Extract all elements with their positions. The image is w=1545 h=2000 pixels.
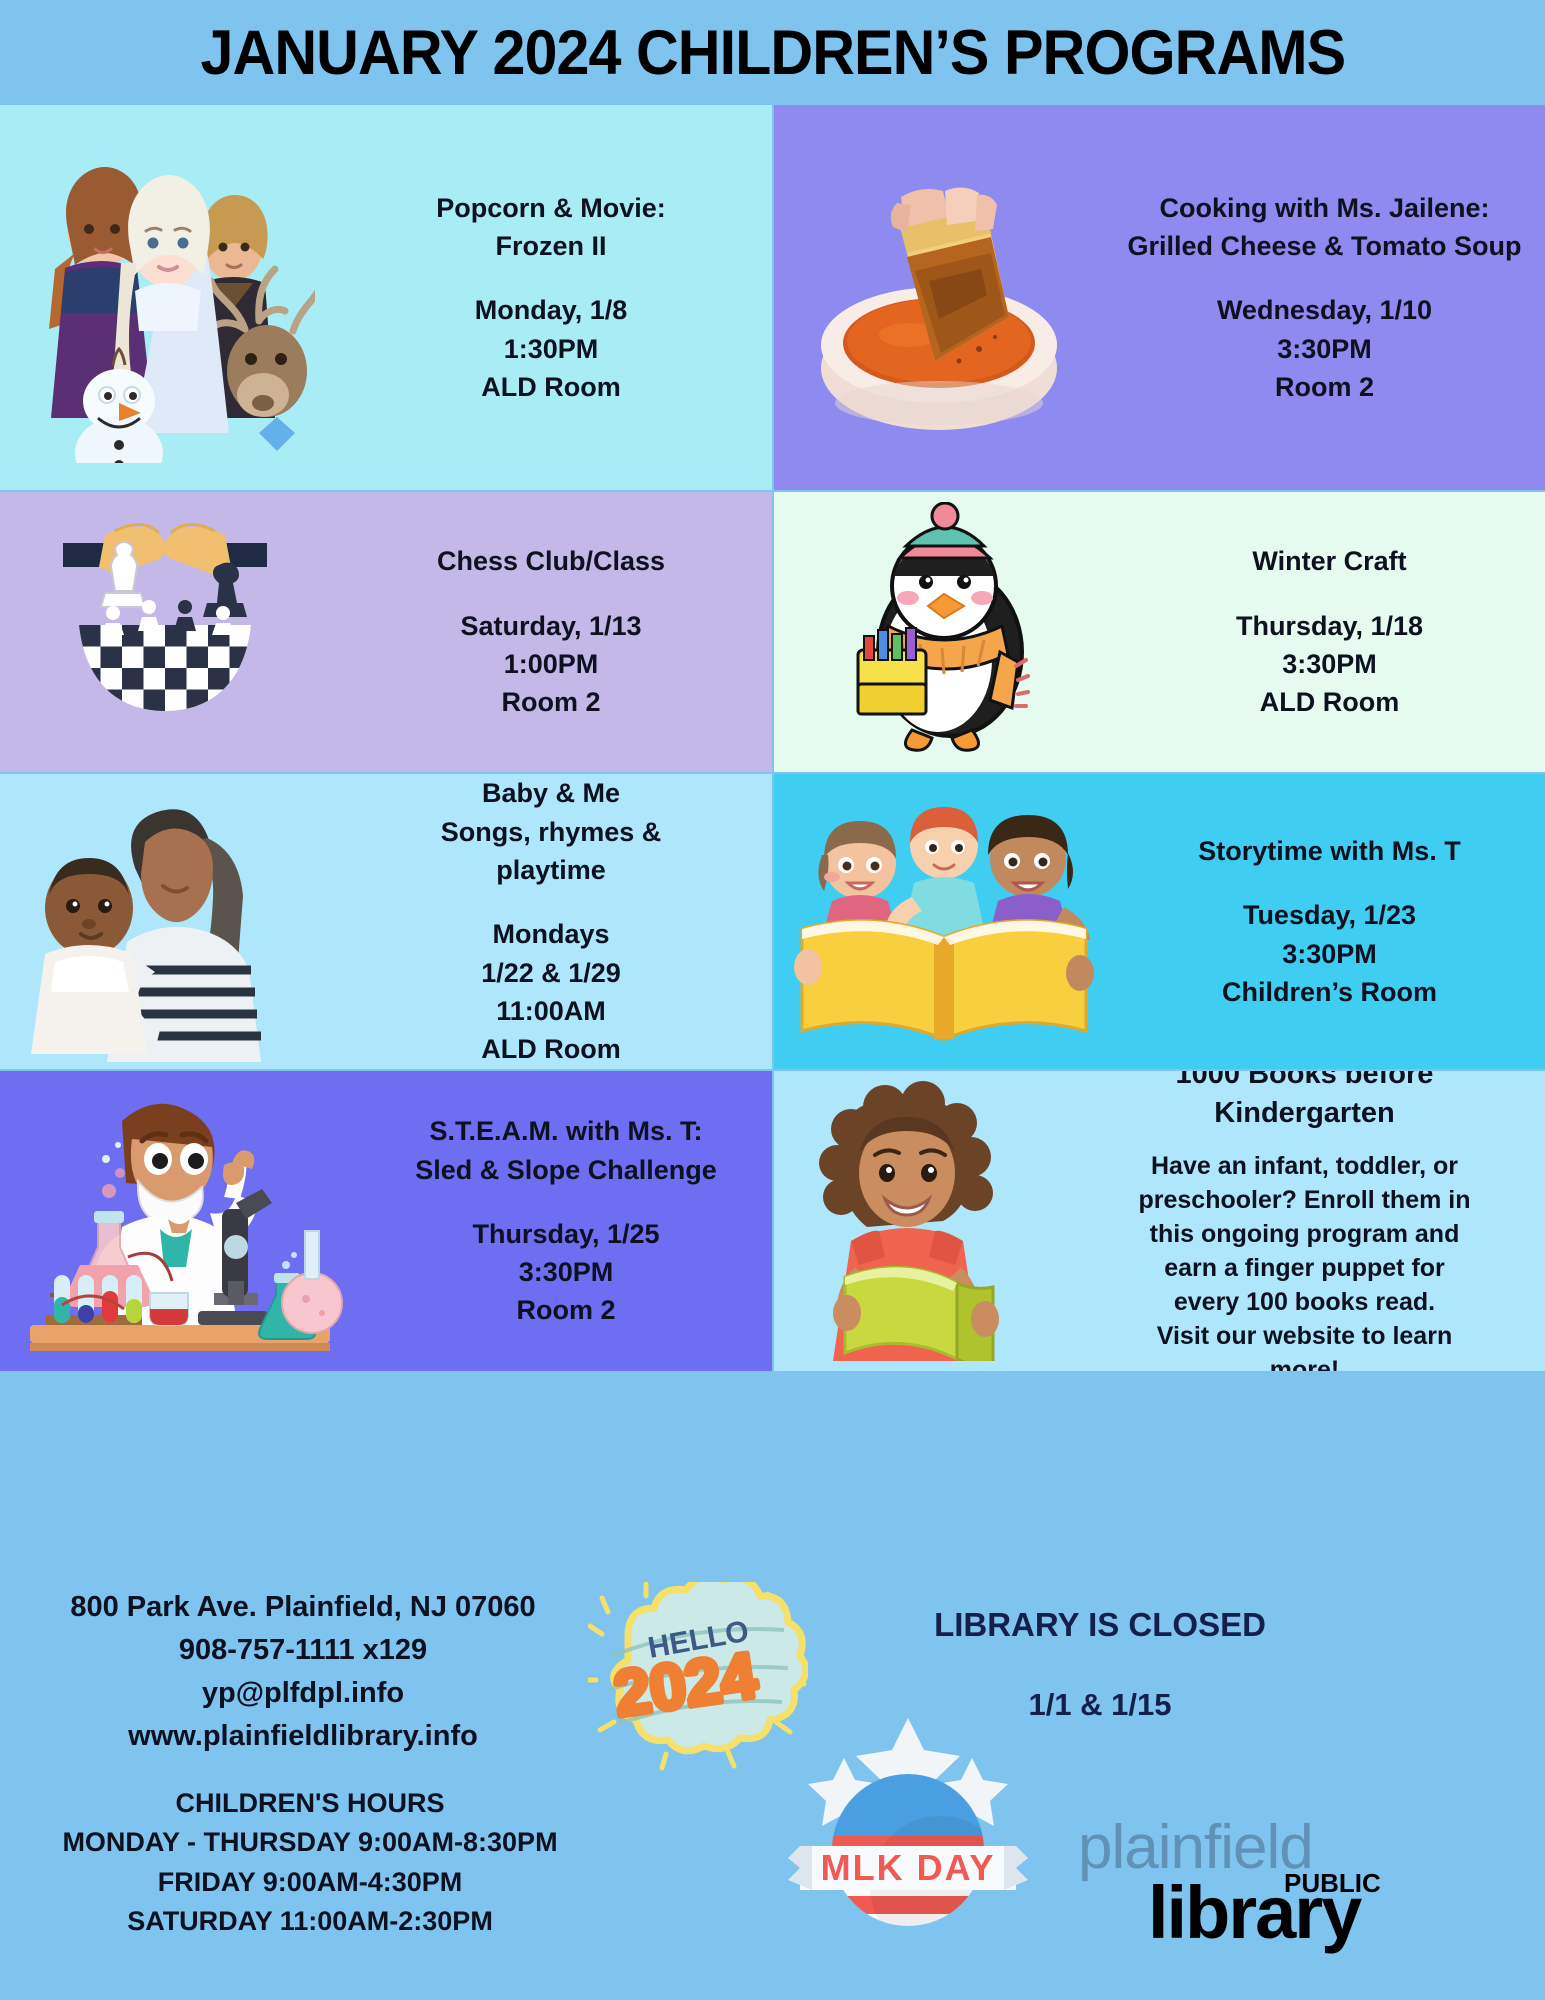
program-text-cooking: Cooking with Ms. Jailene: Grilled Cheese… [1104,189,1545,407]
program-title-line: Cooking with Ms. Jailene: [1114,189,1535,227]
penguin-with-crayons-image [774,492,1114,772]
program-text-popcorn-movie: Popcorn & Movie: Frozen II Monday, 1/8 1… [330,189,772,407]
program-body-line: Visit our website to learn [1074,1319,1535,1353]
program-detail-line: Tuesday, 1/23 [1124,896,1535,934]
hours-line: SATURDAY 11:00AM-2:30PM [0,1902,620,1941]
program-title-line: Chess Club/Class [340,542,762,580]
program-card-baby-and-me[interactable]: Baby & Me Songs, rhymes & playtime Monda… [0,774,772,1069]
program-card-storytime[interactable]: Storytime with Ms. T Tuesday, 1/23 3:30P… [774,774,1545,1069]
program-title-line: S.T.E.A.M. with Ms. T: [370,1112,762,1150]
science-lab-kid-image [0,1071,360,1371]
program-detail-line: Room 2 [1114,368,1535,406]
program-detail-line: Room 2 [370,1291,762,1329]
poster-header: JANUARY 2024 CHILDREN’S PROGRAMS [0,0,1545,105]
program-detail-line: 3:30PM [1124,645,1535,683]
program-card-steam[interactable]: S.T.E.A.M. with Ms. T: Sled & Slope Chal… [0,1071,772,1371]
program-title-line: 1000 Books before [1074,1071,1535,1094]
program-detail-line: 1/22 & 1/29 [340,954,762,992]
program-text-winter-craft: Winter Craft Thursday, 1/18 3:30PM ALD R… [1114,542,1545,721]
program-title-line: Popcorn & Movie: [340,189,762,227]
hours-line: FRIDAY 9:00AM-4:30PM [0,1863,620,1902]
mother-and-baby-image [0,774,330,1069]
program-detail-line: 11:00AM [340,992,762,1030]
program-card-chess[interactable]: Chess Club/Class Saturday, 1/13 1:00PM R… [0,492,772,772]
program-title-line: Sled & Slope Challenge [370,1151,762,1189]
program-detail-line: Monday, 1/8 [340,291,762,329]
girl-with-book-image [774,1071,1064,1371]
closed-title: LIBRARY IS CLOSED [790,1600,1410,1650]
program-title-line: Songs, rhymes & [340,813,762,851]
program-detail-line: Wednesday, 1/10 [1114,291,1535,329]
program-title-line: Baby & Me [340,774,762,812]
program-detail-line: 3:30PM [1114,330,1535,368]
program-card-cooking[interactable]: Cooking with Ms. Jailene: Grilled Cheese… [774,105,1545,490]
program-text-1000-books: 1000 Books before Kindergarten Have an i… [1064,1071,1545,1371]
program-detail-line: Thursday, 1/25 [370,1215,762,1253]
phone-line: 908-757-1111 x129 [18,1629,588,1672]
program-detail-line: Room 2 [340,683,762,721]
program-detail-line: ALD Room [1124,683,1535,721]
program-text-steam: S.T.E.A.M. with Ms. T: Sled & Slope Chal… [360,1112,772,1330]
contact-info: 800 Park Ave. Plainfield, NJ 07060 908-7… [18,1586,588,1758]
program-detail-line: Mondays [340,915,762,953]
programs-grid: Popcorn & Movie: Frozen II Monday, 1/8 1… [0,105,1545,1570]
website-line[interactable]: www.plainfieldlibrary.info [18,1715,588,1758]
childrens-hours: CHILDREN'S HOURS MONDAY - THURSDAY 9:00A… [0,1784,620,1942]
hours-line: MONDAY - THURSDAY 9:00AM-8:30PM [0,1823,620,1862]
program-title-line: playtime [340,851,762,889]
program-text-storytime: Storytime with Ms. T Tuesday, 1/23 3:30P… [1114,832,1545,1011]
program-text-chess: Chess Club/Class Saturday, 1/13 1:00PM R… [330,542,772,721]
chessboard-image [0,492,330,772]
poster-footer: 800 Park Ave. Plainfield, NJ 07060 908-7… [0,1572,1545,2000]
program-card-1000-books[interactable]: 1000 Books before Kindergarten Have an i… [774,1071,1545,1371]
grilled-cheese-soup-image [774,105,1104,490]
program-body-line: more! [1074,1353,1535,1371]
page-title: JANUARY 2024 CHILDREN’S PROGRAMS [200,17,1345,89]
program-title-line: Grilled Cheese & Tomato Soup [1114,227,1535,265]
frozen-characters-image [0,105,330,490]
program-detail-line: 1:30PM [340,330,762,368]
program-title-line: Frozen II [340,227,762,265]
program-title-line: Kindergarten [1074,1094,1535,1133]
hours-title: CHILDREN'S HOURS [0,1784,620,1823]
email-line[interactable]: yp@plfdpl.info [18,1672,588,1715]
program-title-line: Winter Craft [1124,542,1535,580]
program-body-line: Have an infant, toddler, or [1074,1149,1535,1183]
program-detail-line: 3:30PM [1124,935,1535,973]
mlk-day-badge: MLK DAY [788,1700,1028,1950]
program-body-line: every 100 books read. [1074,1285,1535,1319]
program-detail-line: Thursday, 1/18 [1124,607,1535,645]
program-detail-line: ALD Room [340,368,762,406]
program-title-line: Storytime with Ms. T [1124,832,1535,870]
program-body-line: earn a finger puppet for [1074,1251,1535,1285]
program-detail-line: ALD Room [340,1030,762,1068]
plainfield-public-library-logo: plainfield library PUBLIC [1078,1812,1478,1962]
poster: JANUARY 2024 CHILDREN’S PROGRAMS [0,0,1545,2000]
program-detail-line: Children’s Room [1124,973,1535,1011]
address-line: 800 Park Ave. Plainfield, NJ 07060 [18,1586,588,1629]
program-body-line: preschooler? Enroll them in [1074,1183,1535,1217]
program-detail-line: 3:30PM [370,1253,762,1291]
mlk-day-label: MLK DAY [821,1847,996,1888]
program-text-baby-and-me: Baby & Me Songs, rhymes & playtime Monda… [330,774,772,1068]
program-detail-line: 1:00PM [340,645,762,683]
program-body-line: this ongoing program and [1074,1217,1535,1251]
logo-public-text: PUBLIC [1284,1868,1381,1899]
program-detail-line: Saturday, 1/13 [340,607,762,645]
hello-2024-badge: HELLO 2024 [588,1582,808,1772]
program-card-winter-craft[interactable]: Winter Craft Thursday, 1/18 3:30PM ALD R… [774,492,1545,772]
children-reading-book-image [774,774,1114,1069]
program-card-popcorn-movie[interactable]: Popcorn & Movie: Frozen II Monday, 1/8 1… [0,105,772,490]
